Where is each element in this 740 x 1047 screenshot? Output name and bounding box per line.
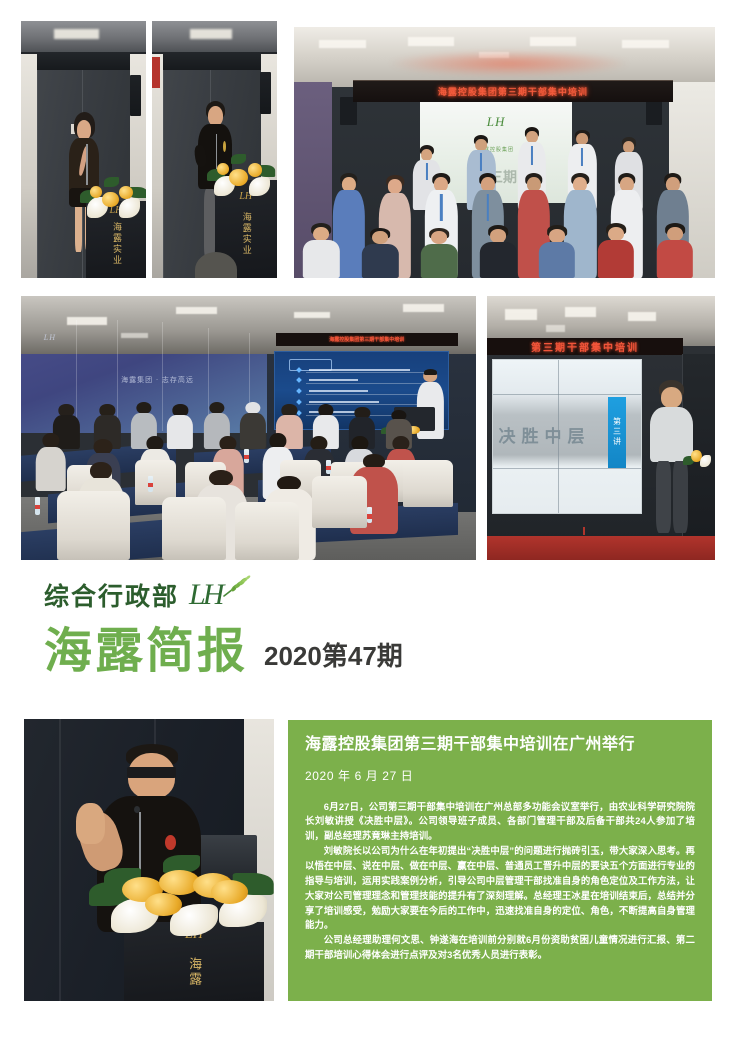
article-paragraph: 公司总经理助理何文思、钟遂海在培训前分别就6月份资助贫困儿童情况进行汇报、第二期…	[305, 933, 695, 963]
issue-label: 2020第47期	[264, 636, 403, 676]
newsletter-page: LH 海露实业	[0, 0, 740, 1047]
water-bottle	[35, 497, 40, 515]
screen-brand: LH	[487, 114, 506, 130]
article-date: 2020 年 6 月 27 日	[305, 767, 695, 784]
video-wall-tab-text: 第三讲	[612, 417, 623, 447]
department-row: 综合行政部 LH	[44, 576, 253, 614]
article-card: 海露控股集团第三期干部集中培训在广州举行 2020 年 6 月 27 日 6月2…	[288, 720, 712, 1001]
led-banner-text: 海露控股集团第三期干部集中培训	[438, 85, 588, 98]
wall-logo: LH	[44, 333, 56, 342]
podium-text: 海露	[187, 957, 201, 987]
photo-lecturer-videowall: 第三期干部集中培训 决胜中层 第三讲	[487, 296, 715, 560]
article-body: 6月27日，公司第三期干部集中培训在广州总部多功能会议室举行，由农业科学研究院院…	[305, 800, 695, 963]
photo-speaker-closeup: LH 海露	[24, 719, 274, 1001]
water-bottle	[326, 460, 331, 474]
photo-group: 海露控股集团第三期干部集中培训 LH 海露控股集团 第三期	[294, 27, 715, 278]
podium-text: 海露实业	[241, 212, 251, 256]
article-paragraph: 刘敏院长以公司为什么在年初提出“决胜中层”的问题进行抛砖引玉，带大家深入思考。再…	[305, 844, 695, 933]
flower-bouquet	[207, 150, 277, 207]
wheat-sprig-icon	[222, 574, 252, 598]
brand-row: 海露简报 2020第47期	[44, 628, 403, 676]
wall-slogan: 海露集团 · 志存高远	[121, 375, 194, 385]
water-bottle	[244, 449, 249, 463]
video-wall-tab: 第三讲	[608, 397, 626, 467]
flower-bouquet	[79, 170, 147, 227]
lh-logo-text: LH	[189, 578, 221, 612]
led-banner-text: 第三期干部集中培训	[531, 339, 639, 354]
article-headline: 海露控股集团第三期干部集中培训在广州举行	[305, 736, 695, 754]
article-paragraph: 6月27日，公司第三期干部集中培训在广州总部多功能会议室举行，由农业科学研究院院…	[305, 800, 695, 845]
led-banner-text: 海露控股集团第三期干部集中培训	[329, 336, 404, 343]
video-wall: 决胜中层 第三讲	[492, 359, 642, 514]
led-banner: 海露控股集团第三期干部集中培训	[276, 333, 458, 346]
photo-classroom: LH 海露集团 · 志存高远 海露控股集团第三期干部集中培训	[21, 296, 476, 560]
water-bottle	[367, 507, 372, 523]
led-banner: 第三期干部集中培训	[487, 338, 683, 355]
department-title: 综合行政部	[44, 577, 179, 613]
photo-speaker-female: LH 海露实业	[21, 21, 146, 278]
flower-bouquet	[89, 852, 274, 942]
led-banner: 海露控股集团第三期干部集中培训	[353, 80, 673, 102]
photo-speaker-male: LH 海露实业	[152, 21, 277, 278]
podium-text: 海露实业	[111, 222, 121, 266]
video-wall-text: 决胜中层	[498, 422, 590, 447]
water-bottle	[148, 476, 153, 492]
lh-sprig-logo: LH	[189, 576, 253, 614]
brand-title: 海露简报	[44, 628, 248, 676]
